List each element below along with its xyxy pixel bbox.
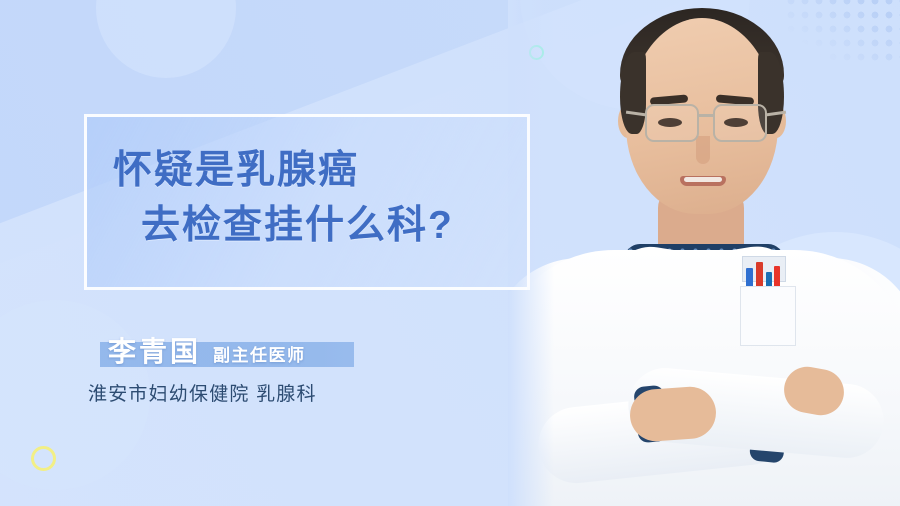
hand-left (628, 385, 717, 443)
title-line-1: 怀疑是乳腺癌 (113, 143, 557, 198)
teeth (684, 177, 722, 182)
doctor-name-banner: 李青国 副主任医师 (60, 330, 400, 368)
doctor-title: 副主任医师 (213, 341, 306, 366)
hair-side-left (620, 52, 646, 134)
doctor-photo (508, 0, 900, 506)
doctor-video-thumbnail-card: 怀疑是乳腺癌 去检查挂什么科? 李青国 副主任医师 淮安市妇幼保健院 乳腺科 (0, 0, 900, 506)
title-text-group: 怀疑是乳腺癌 去检查挂什么科? (87, 117, 557, 254)
eyeglasses-lens-right (713, 104, 767, 142)
title-box: 怀疑是乳腺癌 去检查挂什么科? (84, 114, 530, 290)
name-row: 李青国 副主任医师 (108, 330, 306, 370)
eyeglasses-bridge (699, 114, 713, 117)
eyeglasses-lens-left (645, 104, 699, 142)
nose (696, 136, 710, 164)
coat-pocket (740, 286, 796, 346)
ring-yellow-icon (31, 446, 56, 471)
title-line-2: 去检查挂什么科? (113, 198, 557, 253)
doctor-name: 李青国 (108, 330, 201, 370)
hospital-department-label: 淮安市妇幼保健院 乳腺科 (88, 379, 317, 406)
